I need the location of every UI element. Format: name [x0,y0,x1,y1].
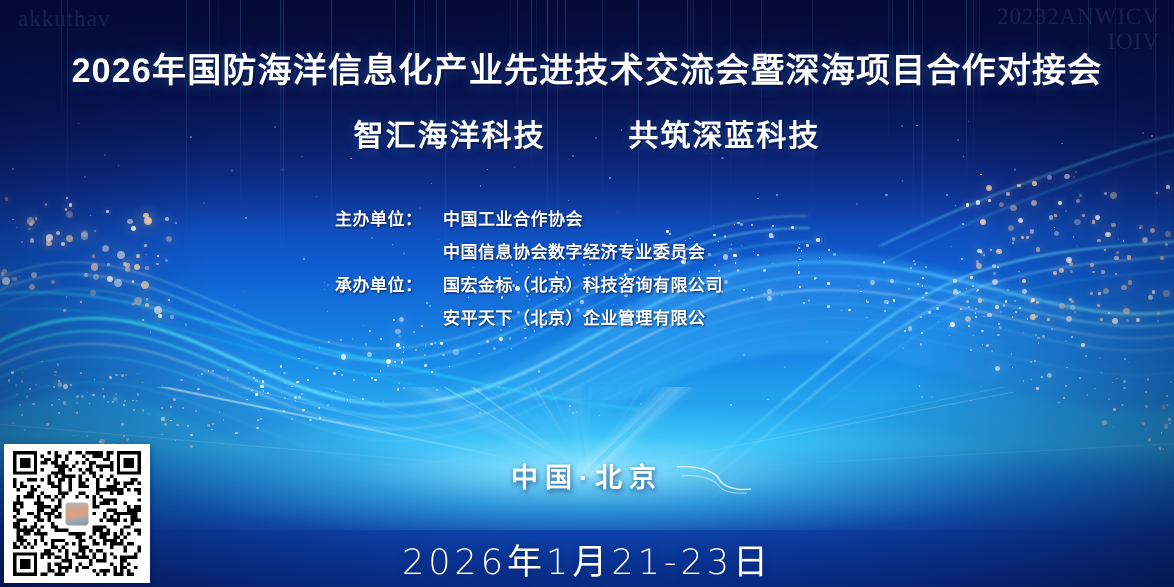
organizer-row: 主办单位：中国信息协会数字经济专业委员会 [335,236,723,269]
organizer-row: 主办单位：中国工业合作协会 [335,203,723,236]
subtitle-right: 共筑深蓝科技 [628,120,820,153]
poster-subtitle: 智汇海洋科技 共筑深蓝科技 [0,111,1174,155]
poster-title: 2026年国防海洋信息化产业先进技术交流会暨深海项目合作对接会 [0,43,1174,92]
organizer-row: 承办单位：安平天下（北京）企业管理有限公 [335,302,723,335]
qr-center-logo [64,500,91,527]
organizer-label: 承办单位： [335,269,443,302]
qr-canvas-wrap [13,451,141,576]
poster-date: 2026年1月21-23日 [0,534,1174,585]
organizer-value: 国宏金标（北京）科技咨询有限公司 [443,269,723,302]
organizer-value: 中国工业合作协会 [443,203,723,236]
qr-card[interactable] [4,444,150,583]
organizer-value: 安平天下（北京）企业管理有限公 [443,302,723,335]
road-swoosh-icon [675,462,753,496]
organizer-row: 承办单位：国宏金标（北京）科技咨询有限公司 [335,269,723,302]
organizer-label: 主办单位： [335,203,443,236]
city-text: 中国·北京 [511,463,663,493]
city-line: 中国·北京 [0,456,1174,495]
conference-poster: akkuthav 20232ANWICV IOIV 2026年国防海洋信息化产业… [0,0,1174,587]
poster-content: 2026年国防海洋信息化产业先进技术交流会暨深海项目合作对接会 智汇海洋科技 共… [0,0,1174,587]
organizer-block: 主办单位：中国工业合作协会主办单位：中国信息协会数字经济专业委员会承办单位：国宏… [335,203,723,335]
subtitle-left: 智汇海洋科技 [354,120,546,153]
city-wrap: 中国·北京 [511,456,663,495]
organizer-value: 中国信息协会数字经济专业委员会 [443,236,723,269]
